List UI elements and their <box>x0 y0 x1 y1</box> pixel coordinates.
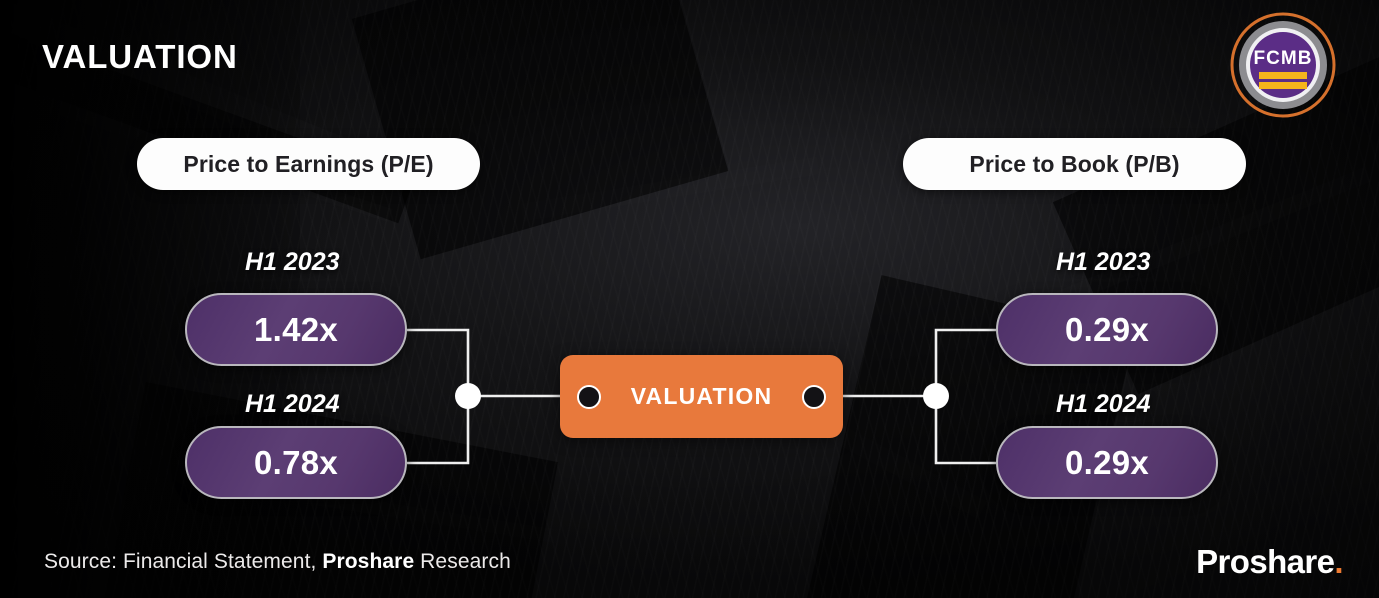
fcmb-logo-icon: FCMB <box>1228 10 1338 120</box>
source-note: Source: Financial Statement, Proshare Re… <box>44 550 511 574</box>
right-period-label-2: H1 2024 <box>1056 390 1151 419</box>
proshare-logo-text: Proshare <box>1196 543 1334 580</box>
right-value-pill-1[interactable]: 0.29x <box>996 293 1218 366</box>
left-value-pill-1[interactable]: 1.42x <box>185 293 407 366</box>
source-prefix: Source: Financial Statement, <box>44 550 322 573</box>
right-period-label-1: H1 2023 <box>1056 248 1151 277</box>
page-title: VALUATION <box>42 38 238 76</box>
valuation-infographic: VALUATION FCMB Price to Earnings (P/E) P… <box>0 0 1379 598</box>
svg-text:FCMB: FCMB <box>1254 48 1313 69</box>
center-valuation-label: VALUATION <box>560 355 843 438</box>
fcmb-logo: FCMB <box>1228 10 1338 120</box>
left-value-pill-2[interactable]: 0.78x <box>185 426 407 499</box>
source-suffix: Research <box>414 550 511 573</box>
right-value-pill-2[interactable]: 0.29x <box>996 426 1218 499</box>
left-period-label-2: H1 2024 <box>245 390 340 419</box>
right-hole-icon <box>802 385 826 409</box>
header-pill-price-to-book[interactable]: Price to Book (P/B) <box>903 138 1246 190</box>
proshare-logo: Proshare. <box>1196 543 1343 581</box>
proshare-logo-dot: . <box>1334 543 1343 580</box>
left-period-label-1: H1 2023 <box>245 248 340 277</box>
center-valuation-box[interactable]: VALUATION <box>560 355 843 438</box>
source-brand: Proshare <box>322 550 414 573</box>
header-pill-price-to-earnings[interactable]: Price to Earnings (P/E) <box>137 138 480 190</box>
